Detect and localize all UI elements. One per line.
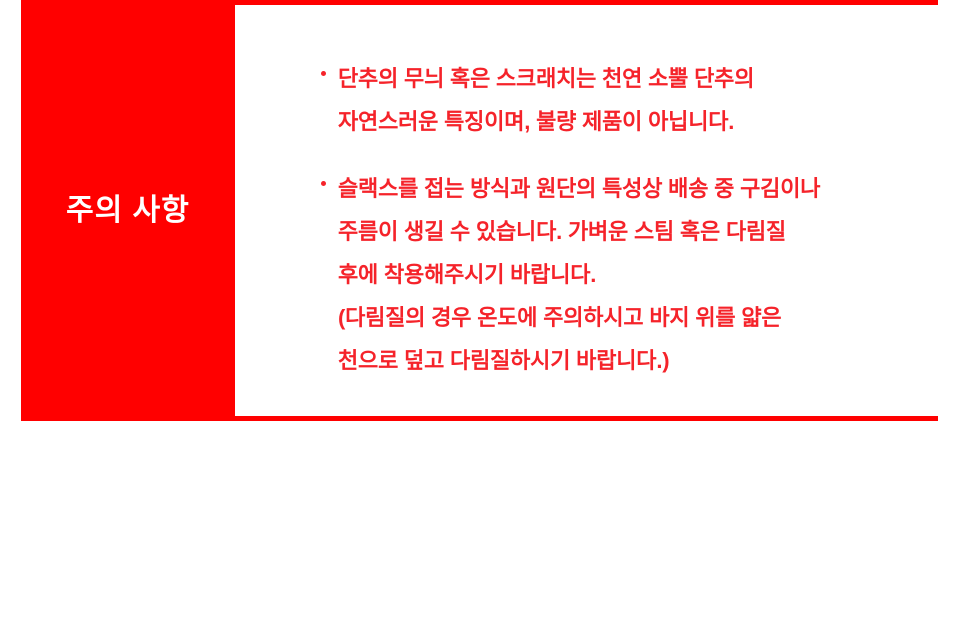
notice-label-text: 주의 사항: [66, 193, 190, 229]
list-item: 슬랙스를 접는 방식과 원단의 특성상 배송 중 구김이나 주름이 생길 수 있…: [321, 167, 928, 382]
notice-list: 단추의 무늬 혹은 스크래치는 천연 소뿔 단추의 자연스러운 특징이며, 불량…: [321, 57, 928, 382]
round-bullet-icon: [321, 71, 326, 76]
notice-content-panel: 단추의 무늬 혹은 스크래치는 천연 소뿔 단추의 자연스러운 특징이며, 불량…: [235, 5, 938, 416]
notice-text-line: 단추의 무늬 혹은 스크래치는 천연 소뿔 단추의: [338, 57, 928, 100]
notice-text-line: 슬랙스를 접는 방식과 원단의 특성상 배송 중 구김이나: [338, 167, 928, 210]
list-item: 단추의 무늬 혹은 스크래치는 천연 소뿔 단추의 자연스러운 특징이며, 불량…: [321, 57, 928, 143]
notice-text-line: 후에 착용해주시기 바랍니다.: [338, 253, 928, 296]
notice-text-line: (다림질의 경우 온도에 주의하시고 바지 위를 얇은: [338, 296, 928, 339]
notice-banner: 주의 사항 단추의 무늬 혹은 스크래치는 천연 소뿔 단추의 자연스러운 특징…: [21, 0, 938, 421]
notice-text-line: 주름이 생길 수 있습니다. 가벼운 스팀 혹은 다림질: [338, 210, 928, 253]
notice-section: 주의 사항 단추의 무늬 혹은 스크래치는 천연 소뿔 단추의 자연스러운 특징…: [0, 0, 960, 624]
notice-item-lines: 슬랙스를 접는 방식과 원단의 특성상 배송 중 구김이나 주름이 생길 수 있…: [338, 167, 928, 382]
notice-label-cell: 주의 사항: [21, 0, 235, 421]
notice-text-line: 자연스러운 특징이며, 불량 제품이 아닙니다.: [338, 100, 928, 143]
round-bullet-icon: [321, 181, 326, 186]
notice-text-line: 천으로 덮고 다림질하시기 바랍니다.): [338, 339, 928, 382]
notice-item-lines: 단추의 무늬 혹은 스크래치는 천연 소뿔 단추의 자연스러운 특징이며, 불량…: [338, 57, 928, 143]
